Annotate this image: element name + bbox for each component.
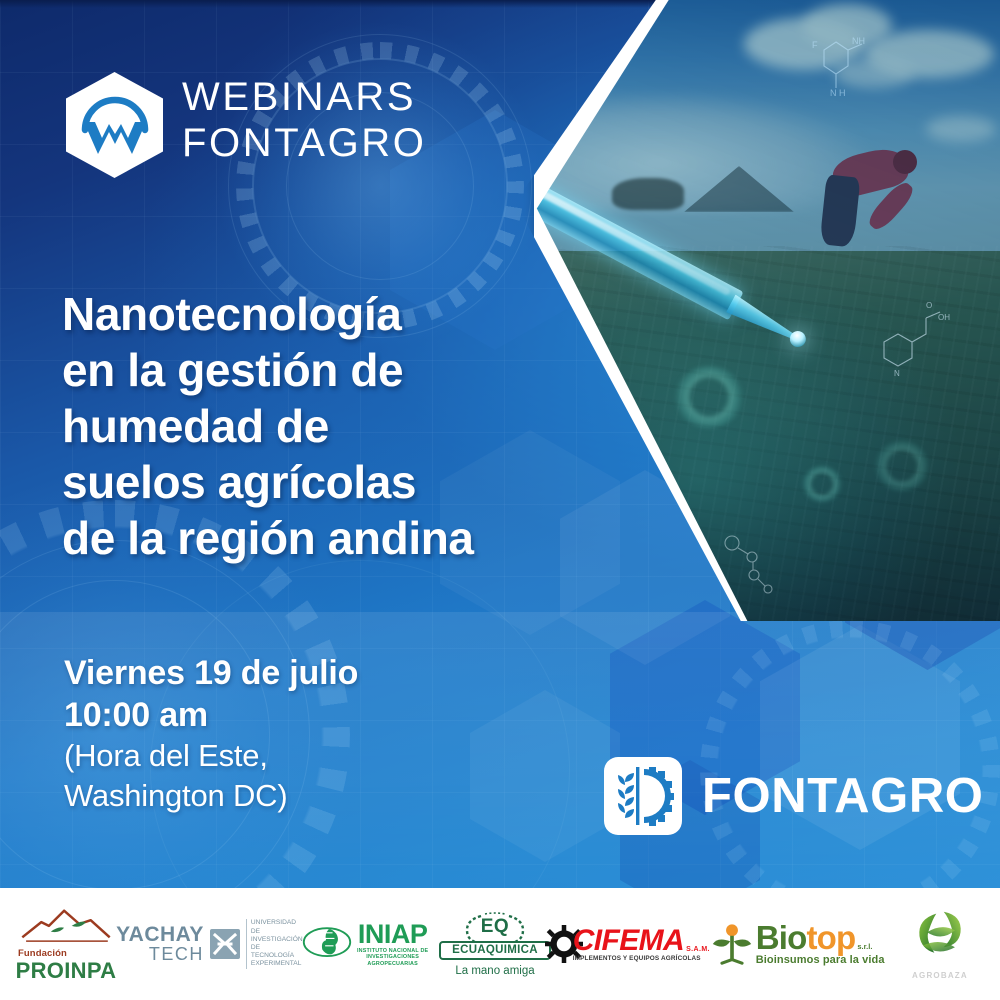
photo-bio-ring [674, 366, 744, 428]
sponsor-logo-iniap: INIAP INSTITUTO NACIONAL DE INVESTIGACIO… [301, 921, 437, 968]
ecuaquimica-tagline: La mano amiga [439, 965, 551, 977]
sponsor-logo-cifema: CIFEMA S.A.M. IMPLEMENTOS Y EQUIPOS AGRÍ… [553, 925, 701, 963]
event-time: 10:00 am [64, 694, 504, 736]
title-line-5: de la región andina [62, 510, 662, 566]
cifema-description: IMPLEMENTOS Y EQUIPOS AGRÍCOLAS [573, 955, 710, 962]
fontagro-logo: FONTAGRO [604, 757, 934, 841]
sponsor-logo-biotop: Bio top s.r.l. Bioinsumos para la vida [704, 922, 892, 966]
mountain-leaf-icon [16, 905, 116, 943]
proinpa-name: PROINPA [14, 959, 118, 983]
webinar-title: Nanotecnología en la gestión de humedad … [62, 286, 662, 566]
event-timezone-line-1: (Hora del Este, [64, 736, 504, 776]
yachay-desc-line-1: UNIVERSIDAD [251, 919, 303, 927]
iniap-desc-line-2: INVESTIGACIONES AGROPECUARIAS [349, 954, 437, 967]
iniap-emblem-icon [301, 923, 353, 965]
biotop-name-part-1: Bio [756, 922, 807, 954]
webinars-line-1: WEBINARS [182, 74, 427, 120]
event-date: Viernes 19 de julio [64, 652, 504, 694]
cifema-name: CIFEMA [573, 926, 684, 955]
sponsor-logo-agrobaza: AGROBAZA [894, 908, 986, 980]
ecuaquimica-mark: EQ [439, 917, 551, 937]
iniap-desc-line-1: INSTITUTO NACIONAL DE [349, 948, 437, 955]
yachay-desc-line-3: DE TECNOLOGÍA [251, 944, 303, 960]
title-line-1: Nanotecnología [62, 286, 662, 342]
fontagro-wordmark: FONTAGRO [702, 768, 984, 824]
yachay-name-line-2: TECH [116, 945, 204, 964]
green-leaf-swoosh-icon [912, 908, 968, 964]
iniap-name: INIAP [349, 921, 437, 948]
w-arc-glyph [78, 92, 152, 162]
title-line-3: humedad de [62, 398, 662, 454]
svg-text:OH: OH [938, 313, 950, 322]
molecule-diagram-icon: F NH N H [806, 32, 876, 106]
sponsor-logo-ecuaquimica: EQ ECUAQUIMICA La mano amiga [439, 912, 551, 977]
ecuaquimica-name: ECUAQUIMICA [439, 941, 551, 960]
webinars-wordmark: WEBINARS FONTAGRO [182, 74, 427, 166]
yachay-description: UNIVERSIDAD DE INVESTIGACIÓN DE TECNOLOG… [246, 919, 303, 968]
sponsor-logo-proinpa: Fundación PROINPA [14, 905, 118, 983]
event-timezone-line-2: Washington DC) [64, 776, 504, 816]
person-leaf-icon [711, 923, 753, 965]
webinars-line-2: FONTAGRO [182, 120, 427, 166]
photo-bio-ring [874, 441, 930, 491]
webinar-poster: F NH N H O OH N [0, 0, 1000, 1000]
webinars-fontagro-logo: WEBINARS FONTAGRO [66, 70, 396, 180]
pipette-tip [726, 295, 799, 346]
svg-text:N: N [894, 369, 900, 378]
yachay-desc-line-4: EXPERIMENTAL [251, 960, 303, 968]
title-line-4: suelos agrícolas [62, 454, 662, 510]
biotop-name-part-2: top [806, 922, 855, 954]
title-line-2: en la gestión de [62, 342, 662, 398]
svg-text:NH: NH [852, 36, 865, 46]
agrobaza-name: AGROBAZA [912, 971, 968, 980]
wheat-gear-glyph [613, 765, 675, 827]
schedule-block: Viernes 19 de julio 10:00 am (Hora del E… [64, 652, 504, 816]
yachay-name-line-1: YACHAY [116, 925, 204, 945]
sponsor-logo-yachay-tech: YACHAY TECH UNIVERSIDAD DE INVESTIGACIÓN… [120, 919, 298, 968]
yachay-desc-line-2: DE INVESTIGACIÓN [251, 928, 303, 944]
photo-bio-ring [802, 466, 842, 502]
svg-text:N H: N H [830, 88, 846, 98]
yachay-square-icon [210, 929, 240, 959]
molecule-diagram-icon: O OH N [864, 296, 952, 380]
svg-text:F: F [812, 40, 818, 50]
biotop-suffix: s.r.l. [857, 942, 872, 951]
sponsor-bar: Fundación PROINPA YACHAY TECH UNIVERSIDA… [0, 888, 1000, 1000]
biotop-tagline: Bioinsumos para la vida [756, 954, 885, 966]
svg-text:O: O [926, 301, 932, 310]
